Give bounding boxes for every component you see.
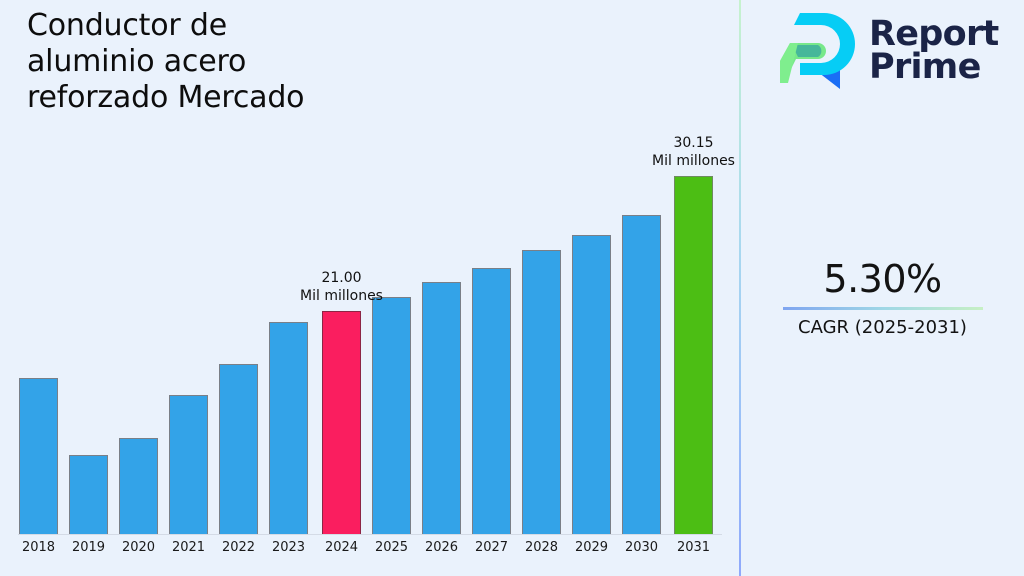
bar-2022 <box>219 364 258 534</box>
cagr-value: 5.30% <box>741 255 1024 303</box>
bar-annotation-value: 30.15 <box>673 135 713 151</box>
x-tick-2031: 2031 <box>664 540 724 555</box>
chart-canvas: Conductor de aluminio acero reforzado Me… <box>0 0 1024 576</box>
bar-2031 <box>674 176 713 534</box>
bar-2024 <box>322 311 361 534</box>
x-axis-line <box>18 534 722 535</box>
report-prime-wordmark: Report Prime <box>869 18 999 84</box>
brand-panel: Report Prime 5.30% CAGR (2025-2031) <box>741 0 1024 576</box>
bar-annotation-2024: 21.00Mil millones <box>267 269 417 305</box>
bar-annotation-units: Mil millones <box>267 287 417 305</box>
bar-2023 <box>269 322 308 534</box>
report-prime-logo: Report Prime <box>778 13 999 89</box>
bar-2021 <box>169 395 208 534</box>
bar-2018 <box>19 378 58 534</box>
bar-annotation-value: 21.00 <box>321 270 361 286</box>
bar-2026 <box>422 282 461 534</box>
x-tick-2030: 2030 <box>612 540 672 555</box>
bar-2028 <box>522 250 561 534</box>
bar-2029 <box>572 235 611 534</box>
bar-2020 <box>119 438 158 534</box>
logo-line-2: Prime <box>869 51 999 84</box>
bar-2025 <box>372 297 411 534</box>
bar-chart-plot: 2018201920202021202220232024202520262027… <box>0 0 740 576</box>
x-tick-2023: 2023 <box>259 540 319 555</box>
cagr-divider <box>783 307 983 310</box>
bar-2019 <box>69 455 108 534</box>
report-prime-logo-icon <box>778 13 856 89</box>
bar-2027 <box>472 268 511 534</box>
cagr-block: 5.30% CAGR (2025-2031) <box>741 255 1024 340</box>
cagr-label: CAGR (2025-2031) <box>741 316 1024 340</box>
bar-2030 <box>622 215 661 534</box>
chart-panel: Conductor de aluminio acero reforzado Me… <box>0 0 740 576</box>
